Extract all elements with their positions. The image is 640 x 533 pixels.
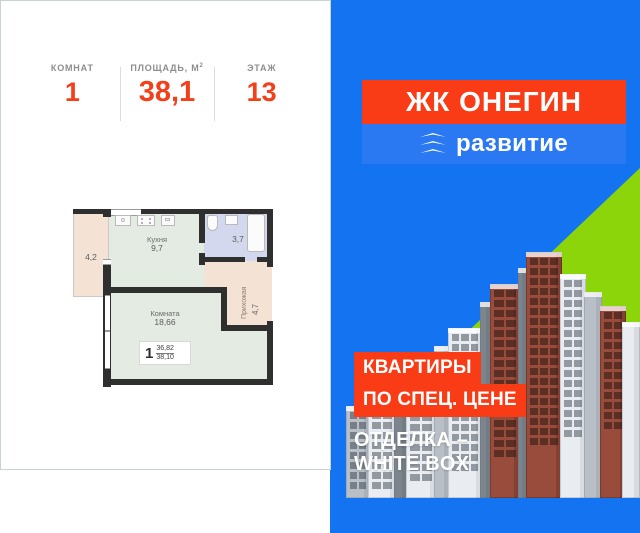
label-kitchen-area: 9,7: [127, 244, 187, 253]
badge-area-living: 36,82: [156, 345, 174, 354]
stat-area: ПЛОЩАДЬ, М2 38,1: [120, 63, 215, 125]
label-hallway-area-wrap: 4,7: [252, 304, 260, 315]
stove-icon: [137, 215, 155, 226]
label-living-area: 18,66: [125, 318, 205, 327]
brand-logo-block: ЖК ОНЕГИН развитие: [362, 80, 626, 164]
wall-hall-bottom: [221, 325, 273, 331]
stat-rooms-label: КОМНАТ: [25, 63, 120, 73]
toilet-icon: [207, 215, 218, 231]
stat-floor-label: ЭТАЖ: [214, 63, 309, 73]
brand-name: ЖК ОНЕГИН: [362, 80, 626, 124]
stat-rooms: КОМНАТ 1: [25, 63, 120, 125]
label-hallway-name: Прихожая: [241, 287, 248, 319]
label-living: Комната 18,66: [125, 309, 205, 327]
sink-drain-icon: [121, 218, 125, 222]
bathtub-icon: [247, 214, 265, 252]
label-balcony-area: 4,2: [75, 253, 107, 262]
label-balcony: 4,2: [75, 253, 107, 262]
floor-plan: Кухня 9,7 Комната 18,66 3,7 4,2 Прихожая…: [61, 201, 281, 401]
room-living-ext: [204, 327, 272, 383]
stat-rooms-value: 1: [25, 77, 120, 107]
badge-rooms: 1: [145, 346, 153, 361]
promo-copy: КВАРТИРЫ ПО СПЕЦ. ЦЕНЕ ОТДЕЛКА – WHITE B…: [354, 352, 606, 476]
tower: [622, 322, 640, 498]
stat-area-label-text: ПЛОЩАДЬ, М: [130, 63, 199, 73]
label-hallway: Прихожая: [241, 287, 249, 319]
stat-area-label-sup: 2: [200, 63, 204, 69]
badge-area-total: 38,10: [156, 354, 174, 362]
developer-badge: развитие: [362, 124, 626, 164]
stat-area-value: 38,1: [120, 77, 215, 107]
stats-row: КОМНАТ 1 ПЛОЩАДЬ, М2 38,1 ЭТАЖ 13: [25, 63, 309, 125]
label-bathroom: 3,7: [219, 235, 257, 244]
wall-bath-bottom-right: [257, 257, 273, 262]
listing-image: КВАРТИРЫ ПО СПЕЦ. ЦЕНЕ ОТДЕЛКА – WHITE B…: [0, 0, 640, 533]
finish-line-2: WHITE BOX: [354, 452, 606, 476]
wall-bath-left: [199, 209, 205, 243]
developer-name: развитие: [456, 124, 568, 164]
wall-bath-bottom: [199, 257, 245, 262]
stacked-chevrons-icon: [420, 133, 446, 155]
bathroom-sink-icon: [225, 215, 238, 225]
price-line-1: КВАРТИРЫ: [354, 352, 481, 385]
stat-floor: ЭТАЖ 13: [214, 63, 309, 125]
label-hallway-area: 4,7: [251, 304, 260, 315]
appliance-detail-icon: [165, 218, 170, 221]
wall-kitchen-living: [105, 287, 227, 293]
label-bathroom-area: 3,7: [219, 235, 257, 244]
wall-bottom: [103, 379, 273, 385]
window-living-left: [105, 295, 110, 331]
price-tag: КВАРТИРЫ ПО СПЕЦ. ЦЕНЕ: [354, 352, 606, 417]
label-kitchen: Кухня 9,7: [127, 235, 187, 253]
stat-floor-value: 13: [214, 77, 309, 107]
stat-area-label: ПЛОЩАДЬ, М2: [120, 63, 215, 73]
window-living-left-2: [105, 331, 110, 369]
finish-line-1: ОТДЕЛКА –: [354, 428, 606, 452]
wall-balcony-top: [73, 209, 105, 214]
price-line-2: ПО СПЕЦ. ЦЕНЕ: [354, 384, 526, 417]
badge-areas: 36,82 38,10: [156, 345, 174, 362]
apartment-card: КОМНАТ 1 ПЛОЩАДЬ, М2 38,1 ЭТАЖ 13: [0, 0, 331, 470]
plan-summary-badge: 1 36,82 38,10: [139, 341, 191, 365]
